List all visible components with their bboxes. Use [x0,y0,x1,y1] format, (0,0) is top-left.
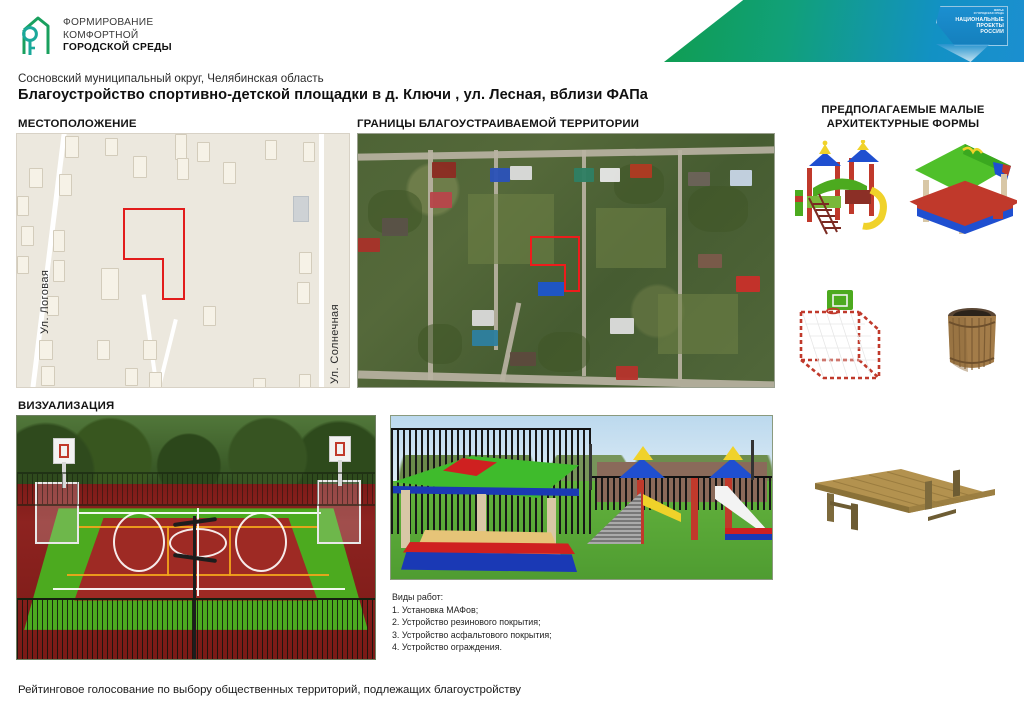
aerial-roof [610,318,634,334]
header-gradient-shape [664,0,1024,62]
map-building [177,158,189,180]
court-white-line [77,512,321,514]
map-building [39,340,53,360]
playground-render[interactable] [390,415,773,580]
works-heading: Виды работ: [392,591,722,604]
map-building [175,134,187,160]
logo-sheet-shape [936,6,1008,46]
map-building [133,156,147,178]
map-building [17,196,29,216]
court-key-arc-right [235,512,287,572]
play-sandbox-base [401,552,577,572]
court-key-arc-left [113,512,165,572]
works-item: 1. Установка МАФов; [392,604,722,617]
play-lamp-post [751,440,754,480]
boundary-polygon-bottom [162,258,185,300]
map-building [203,306,216,326]
house-key-icon [18,14,54,58]
maf-title-line-2: АРХИТЕКТУРНЫЕ ФОРМЫ [827,118,980,130]
brand-line-1: ФОРМИРОВАНИЕ [63,17,172,30]
aerial-roof [382,218,408,236]
map-building [105,138,118,156]
aerial-vegetation [538,332,590,372]
works-item: 4. Устройство ограждения. [392,641,722,654]
map-building [59,174,72,196]
logo-main-text: НАЦИОНАЛЬНЫЕПРОЕКТЫРОССИИ [955,17,1004,35]
aerial-roof [490,168,510,182]
map-building [29,168,43,188]
court-white-line [53,588,345,590]
section-title-borders: ГРАНИЦЫ БЛАГОУСТРАИВАЕМОЙ ТЕРРИТОРИИ [357,118,639,130]
maf-wooden-trash-bin[interactable] [940,300,1004,378]
brand-logo: ФОРМИРОВАНИЕ КОМФОРТНОЙ ГОРОДСКОЙ СРЕДЫ [18,14,172,58]
map-building [125,368,138,386]
court-orange-line [229,526,231,576]
aerial-roof [630,164,652,178]
map-building [21,226,34,246]
brand-line-2: КОМФОРТНОЙ [63,30,172,43]
boundary-polygon-top [123,208,185,260]
maf-sandbox-with-roof[interactable] [907,140,1017,245]
map-building [101,268,119,300]
aerial-vegetation [688,186,748,232]
aerial-roof [616,366,638,380]
brand-line-3: ГОРОДСКОЙ СРЕДЫ [63,42,172,55]
aerial-roof [432,162,456,178]
sandbox-with-roof-icon [907,140,1017,245]
aerial-roof [510,166,532,180]
national-projects-logo: ЖИЛЬЕИ ГОРОДСКАЯ СРЕДА НАЦИОНАЛЬНЫЕПРОЕК… [936,6,1008,46]
map-building [253,378,266,388]
footer-text: Рейтинговое голосование по выбору общест… [18,684,521,696]
map-building [299,252,312,274]
map-plot [293,196,309,222]
section-title-maf: ПРЕДПОЛАГАЕМЫЕ МАЛЫЕ АРХИТЕКТУРНЫЕ ФОРМЫ [790,103,1016,131]
section-title-location: МЕСТОПОЛОЖЕНИЕ [18,118,137,130]
aerial-roof [574,168,594,182]
aerial-roof [730,170,752,186]
map-building [197,142,210,162]
play-fence-back [589,476,773,510]
maf-title-line-1: ПРЕДПОЛАГАЕМЫЕ МАЛЫЕ [821,104,984,116]
aerial-roof [698,254,722,268]
aerial-boundary-bottom [564,264,580,292]
maf-playground-complex[interactable] [793,140,897,245]
maf-football-goal-with-basketball-hoop[interactable] [793,288,897,388]
map-building [303,142,315,162]
location-map[interactable]: ФАП ФАПд. Ключи Ул. Логовая Ул. Солнечна… [16,133,350,388]
play-tower-right [691,478,698,540]
map-building [265,140,277,160]
wooden-trash-bin-icon [940,300,1004,378]
works-list: Виды работ: 1. Установка МАФов; 2. Устро… [392,591,722,654]
map-building [97,340,110,360]
poster-page: ЖИЛЬЕИ ГОРОДСКАЯ СРЕДА НАЦИОНАЛЬНЫЕПРОЕК… [0,0,1024,709]
maf-wooden-bench[interactable] [805,455,1005,540]
brand-text: ФОРМИРОВАНИЕ КОМФОРТНОЙ ГОРОДСКОЙ СРЕДЫ [63,17,172,55]
aerial-roof [472,330,498,346]
sports-court-render[interactable] [16,415,376,660]
court-basketball-board-left [53,438,75,464]
municipality-subtitle: Сосновский муниципальный округ, Челябинс… [18,72,324,85]
aerial-photo[interactable] [357,133,775,388]
map-building [297,282,310,304]
aerial-field [596,208,666,268]
court-fence-back [17,472,376,506]
aerial-roof [510,352,536,366]
court-orange-line [167,526,169,576]
aerial-boundary-top [530,236,580,266]
aerial-field [658,294,738,354]
aerial-roof [430,192,452,208]
football-goal-with-hoop-icon [793,288,897,388]
map-building [41,366,55,386]
map-building [53,230,65,252]
boundary-edge-left-bottom [123,258,164,260]
wooden-bench-icon [805,455,1005,540]
map-building [299,374,311,388]
works-item: 2. Устройство резинового покрытия; [392,616,722,629]
map-building [17,256,29,274]
works-item: 3. Устройство асфальтового покрытия; [392,629,722,642]
aerial-roof [688,172,710,186]
play-slide-base-blue [725,534,773,540]
logo-top-text: ЖИЛЬЕИ ГОРОДСКАЯ СРЕДА [974,9,1004,16]
map-building [223,162,236,184]
court-fence-front [17,598,376,660]
map-building [65,136,79,158]
play-pavilion-column [401,490,410,548]
play-lamp-post [589,444,592,490]
aerial-roof [358,238,380,252]
map-road-right [319,133,324,388]
street-label-right: Ул. Солнечная [329,304,341,384]
section-title-visualization: ВИЗУАЛИЗАЦИЯ [18,400,114,412]
aerial-roof [600,168,620,182]
aerial-vegetation [418,324,462,364]
page-title: Благоустройство спортивно-детской площад… [18,87,648,103]
aerial-blue-structure [538,282,564,296]
aerial-roof [736,276,760,292]
street-label-left: Ул. Логовая [39,270,51,334]
map-building [149,372,162,388]
header-band-tail [936,44,990,62]
aerial-boundary-edge [530,264,566,266]
map-building [143,340,157,360]
map-building [53,260,65,282]
court-basketball-board-right [329,436,351,462]
playground-complex-icon [793,140,897,245]
play-sandbox-rim [403,542,575,554]
aerial-roof [472,310,494,326]
